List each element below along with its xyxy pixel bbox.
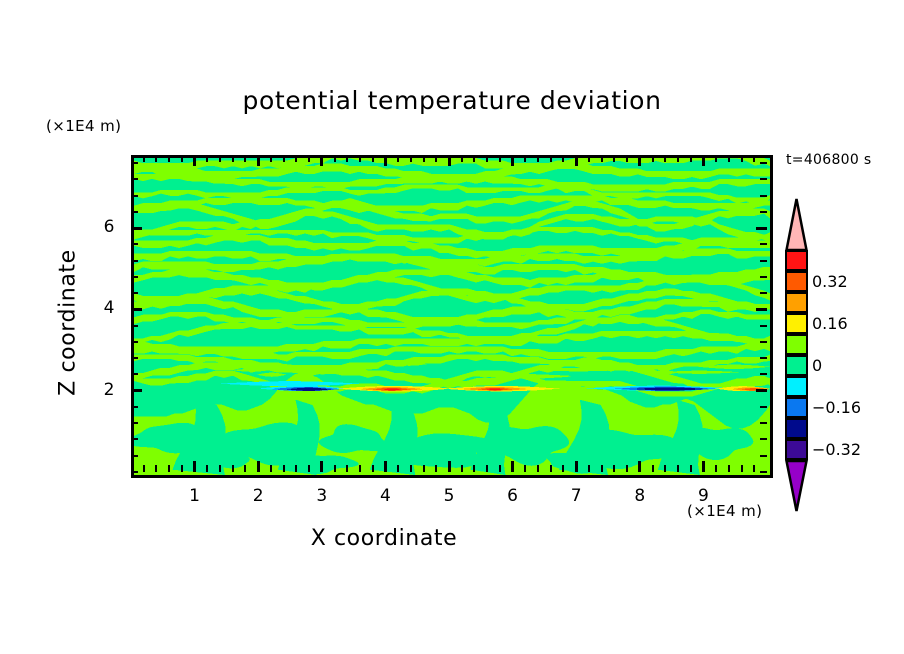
x-minor-tick (143, 465, 145, 472)
x-tick-label: 5 (429, 486, 469, 506)
x-minor-tick-top (715, 155, 717, 162)
x-tick-label: 3 (302, 486, 342, 506)
x-minor-tick-top (461, 155, 463, 162)
y-minor-tick (131, 471, 138, 473)
y-minor-tick-right (760, 162, 767, 164)
x-minor-tick-top (410, 155, 412, 162)
y-major-tick-right (756, 389, 767, 392)
y-minor-tick (131, 260, 138, 262)
x-minor-tick-top (550, 155, 552, 162)
contour-plot-area (131, 155, 773, 478)
x-minor-tick (550, 465, 552, 472)
x-tick-label: 7 (556, 486, 596, 506)
y-minor-tick-right (760, 357, 767, 359)
x-minor-tick-top (334, 155, 336, 162)
colorbar-segment (785, 397, 808, 418)
x-minor-tick (397, 465, 399, 472)
x-minor-tick-top (435, 155, 437, 162)
x-minor-tick-top (601, 155, 603, 162)
y-tick-label: 6 (89, 217, 129, 237)
x-minor-tick (283, 465, 285, 472)
x-minor-tick (715, 465, 717, 472)
x-minor-tick-top (423, 155, 425, 162)
x-minor-tick-top (562, 155, 564, 162)
x-tick-label: 8 (620, 486, 660, 506)
x-major-tick (193, 461, 196, 472)
colorbar-segment (785, 271, 808, 292)
x-minor-tick (537, 465, 539, 472)
x-minor-tick (473, 465, 475, 472)
x-major-tick (638, 461, 641, 472)
x-minor-tick-top (219, 155, 221, 162)
x-minor-tick-top (155, 155, 157, 162)
y-major-tick-right (756, 227, 767, 230)
y-major-tick (131, 308, 142, 311)
x-minor-tick-top (486, 155, 488, 162)
timestamp-label: t=406800 s (786, 152, 871, 168)
x-minor-tick (206, 465, 208, 472)
colorbar-segment (785, 355, 808, 376)
x-minor-tick (613, 465, 615, 472)
y-major-tick (131, 389, 142, 392)
colorbar-segment (785, 334, 808, 355)
y-minor-tick (131, 211, 138, 213)
plot-canvas: potential temperature deviation (×1E4 m)… (0, 0, 904, 654)
x-major-tick-top (257, 155, 260, 166)
x-minor-tick-top (397, 155, 399, 162)
x-minor-tick (652, 465, 654, 472)
x-major-tick-top (702, 155, 705, 166)
y-major-tick (131, 227, 142, 230)
colorbar-segment (785, 292, 808, 313)
x-major-tick (257, 461, 260, 472)
y-minor-tick-right (760, 243, 767, 245)
x-minor-tick (219, 465, 221, 472)
x-minor-tick (423, 465, 425, 472)
y-minor-tick-right (760, 325, 767, 327)
colorbar-segment (785, 418, 808, 439)
y-minor-tick (131, 357, 138, 359)
x-minor-tick-top (346, 155, 348, 162)
y-minor-tick (131, 438, 138, 440)
y-minor-tick-right (760, 292, 767, 294)
x-minor-tick (308, 465, 310, 472)
x-major-tick (384, 461, 387, 472)
y-minor-tick-right (760, 341, 767, 343)
x-minor-tick (155, 465, 157, 472)
x-minor-tick-top (690, 155, 692, 162)
x-minor-tick (626, 465, 628, 472)
x-minor-tick (562, 465, 564, 472)
x-minor-tick (372, 465, 374, 472)
x-major-tick-top (448, 155, 451, 166)
colorbar-tick-label: −0.32 (812, 440, 861, 459)
colorbar-segment (785, 439, 808, 460)
x-minor-tick-top (664, 155, 666, 162)
y-minor-tick-right (760, 195, 767, 197)
y-minor-tick-right (760, 455, 767, 457)
page-title: potential temperature deviation (0, 86, 904, 115)
x-minor-tick-top (524, 155, 526, 162)
x-tick-label: 2 (238, 486, 278, 506)
contour-field (134, 158, 770, 475)
y-minor-tick-right (760, 471, 767, 473)
colorbar (785, 198, 808, 512)
colorbar-bottom-arrow (785, 460, 808, 512)
x-minor-tick-top (181, 155, 183, 162)
x-minor-tick (524, 465, 526, 472)
x-major-tick (448, 461, 451, 472)
x-minor-tick (168, 465, 170, 472)
x-axis-title: X coordinate (0, 526, 768, 551)
x-minor-tick-top (753, 155, 755, 162)
colorbar-top-arrow (785, 198, 808, 250)
y-minor-tick-right (760, 406, 767, 408)
x-minor-tick (741, 465, 743, 472)
colorbar-tick-label: 0.32 (812, 272, 848, 291)
y-minor-tick (131, 406, 138, 408)
colorbar-tick-label: 0.16 (812, 314, 848, 333)
x-minor-tick-top (270, 155, 272, 162)
x-minor-tick (244, 465, 246, 472)
x-minor-tick (753, 465, 755, 472)
y-axis-title: Z coordinate (56, 213, 81, 433)
x-major-tick (511, 461, 514, 472)
y-minor-tick-right (760, 211, 767, 213)
y-minor-tick (131, 373, 138, 375)
x-major-tick (575, 461, 578, 472)
x-minor-tick (461, 465, 463, 472)
x-minor-tick (486, 465, 488, 472)
x-minor-tick-top (168, 155, 170, 162)
x-minor-tick-top (652, 155, 654, 162)
colorbar-segment (785, 376, 808, 397)
x-minor-tick-top (359, 155, 361, 162)
x-tick-label: 9 (683, 486, 723, 506)
x-minor-tick (232, 465, 234, 472)
x-major-tick-top (575, 155, 578, 166)
x-minor-tick-top (473, 155, 475, 162)
colorbar-segment (785, 250, 808, 271)
y-minor-tick (131, 276, 138, 278)
x-major-tick-top (638, 155, 641, 166)
x-minor-tick-top (283, 155, 285, 162)
x-minor-tick (346, 465, 348, 472)
x-minor-tick-top (728, 155, 730, 162)
x-minor-tick-top (613, 155, 615, 162)
x-minor-tick-top (308, 155, 310, 162)
y-minor-tick (131, 422, 138, 424)
x-tick-label: 1 (175, 486, 215, 506)
x-minor-tick (410, 465, 412, 472)
y-minor-tick-right (760, 438, 767, 440)
colorbar-segment (785, 313, 808, 334)
x-minor-tick-top (499, 155, 501, 162)
x-minor-tick-top (626, 155, 628, 162)
x-minor-tick-top (677, 155, 679, 162)
colorbar-tick-label: −0.16 (812, 398, 861, 417)
y-major-tick-right (756, 308, 767, 311)
x-minor-tick (677, 465, 679, 472)
x-minor-tick (181, 465, 183, 472)
y-tick-label: 2 (89, 380, 129, 400)
y-minor-tick (131, 195, 138, 197)
x-minor-tick (334, 465, 336, 472)
x-major-tick-top (511, 155, 514, 166)
y-minor-tick (131, 292, 138, 294)
y-minor-tick-right (760, 260, 767, 262)
x-major-tick (702, 461, 705, 472)
colorbar-tick-label: 0 (812, 356, 822, 375)
y-minor-tick-right (760, 373, 767, 375)
x-minor-tick (728, 465, 730, 472)
x-minor-tick-top (244, 155, 246, 162)
x-tick-label: 6 (493, 486, 533, 506)
y-minor-tick (131, 341, 138, 343)
y-axis-unit-label: (×1E4 m) (46, 117, 121, 135)
x-minor-tick-top (588, 155, 590, 162)
x-minor-tick (270, 465, 272, 472)
x-minor-tick (435, 465, 437, 472)
x-minor-tick (359, 465, 361, 472)
x-minor-tick (499, 465, 501, 472)
y-minor-tick (131, 178, 138, 180)
x-minor-tick (664, 465, 666, 472)
x-major-tick-top (193, 155, 196, 166)
y-tick-label: 4 (89, 298, 129, 318)
y-minor-tick-right (760, 178, 767, 180)
x-minor-tick-top (372, 155, 374, 162)
x-major-tick-top (384, 155, 387, 166)
x-minor-tick-top (537, 155, 539, 162)
x-minor-tick-top (295, 155, 297, 162)
x-minor-tick-top (206, 155, 208, 162)
y-minor-tick (131, 325, 138, 327)
y-minor-tick-right (760, 422, 767, 424)
x-major-tick (320, 461, 323, 472)
x-minor-tick (295, 465, 297, 472)
y-minor-tick (131, 162, 138, 164)
x-minor-tick (588, 465, 590, 472)
x-minor-tick-top (232, 155, 234, 162)
x-major-tick-top (320, 155, 323, 166)
x-minor-tick-top (143, 155, 145, 162)
x-minor-tick (601, 465, 603, 472)
x-tick-label: 4 (365, 486, 405, 506)
y-minor-tick-right (760, 276, 767, 278)
x-minor-tick (690, 465, 692, 472)
x-minor-tick-top (741, 155, 743, 162)
y-minor-tick (131, 243, 138, 245)
y-minor-tick (131, 455, 138, 457)
